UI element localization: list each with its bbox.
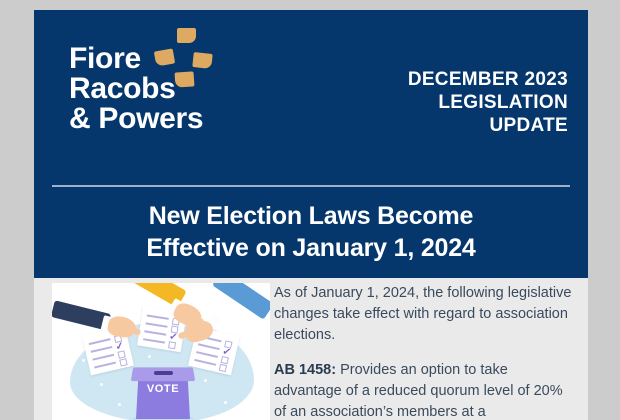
email-newsletter-screenshot: Fiore Racobs & Powers DECEMBER 2023 LEGI… — [0, 0, 620, 420]
ballot-box: VOTE — [132, 367, 194, 419]
sparkle-icon — [148, 355, 151, 358]
ballot-line — [94, 362, 116, 369]
header-top-row: Fiore Racobs & Powers DECEMBER 2023 LEGI… — [34, 10, 588, 175]
issue-kicker: DECEMBER 2023 LEGISLATION UPDATE — [308, 68, 568, 137]
ballot-checkbox — [221, 356, 229, 364]
ballot-line — [147, 314, 169, 319]
paragraph-ab1458: AB 1458: Provides an option to take adva… — [274, 360, 574, 420]
sleeve-blue — [212, 283, 270, 320]
ballot-checkbox — [119, 358, 127, 366]
ballot-line — [143, 338, 165, 343]
ballot-box-slot — [154, 371, 173, 375]
header-divider — [52, 185, 570, 187]
ballot-line — [194, 359, 216, 366]
sparkle-icon — [100, 383, 103, 386]
sparkle-icon — [204, 379, 207, 382]
page-shape-left-icon — [154, 48, 175, 66]
sparkle-icon — [82, 359, 85, 362]
page-shape-top-icon — [177, 28, 196, 43]
kicker-line-legislation: LEGISLATION — [308, 91, 568, 114]
voting-illustration: ✓ ✓ — [52, 283, 270, 420]
ballot-checkbox — [219, 364, 227, 372]
ballot-line — [92, 354, 114, 361]
headline-line-1: New Election Laws Become — [34, 200, 588, 232]
ballot-line — [198, 343, 220, 350]
kicker-line-update: UPDATE — [308, 114, 568, 137]
paragraph-intro-text: As of January 1, 2024, the following leg… — [274, 285, 571, 343]
ballot-line — [89, 338, 111, 345]
page-title: New Election Laws Become Effective on Ja… — [34, 200, 588, 264]
page-shape-bottom-icon — [174, 71, 194, 87]
ballot-line — [146, 322, 168, 327]
ballot-line — [196, 351, 218, 358]
newsletter-header: Fiore Racobs & Powers DECEMBER 2023 LEGI… — [34, 10, 588, 278]
ballot-checkbox — [168, 341, 176, 349]
logo-line-3: & Powers — [69, 104, 319, 134]
headline-line-2: Effective on January 1, 2024 — [34, 232, 588, 264]
email-sheet: Fiore Racobs & Powers DECEMBER 2023 LEGI… — [34, 10, 588, 420]
ballot-line — [144, 330, 166, 335]
sparkle-icon — [224, 401, 227, 404]
ballot-line — [91, 346, 113, 353]
newsletter-body: ✓ ✓ — [34, 278, 588, 420]
body-copy: As of January 1, 2024, the following leg… — [274, 283, 574, 420]
page-shape-right-icon — [192, 52, 212, 69]
sparkle-icon — [118, 403, 121, 406]
pinwheel-pages-icon — [153, 28, 213, 92]
bill-label-ab1458: AB 1458: — [274, 362, 336, 378]
kicker-line-date: DECEMBER 2023 — [308, 68, 568, 91]
paragraph-intro: As of January 1, 2024, the following leg… — [274, 283, 574, 346]
ballot-box-label: VOTE — [132, 383, 194, 395]
